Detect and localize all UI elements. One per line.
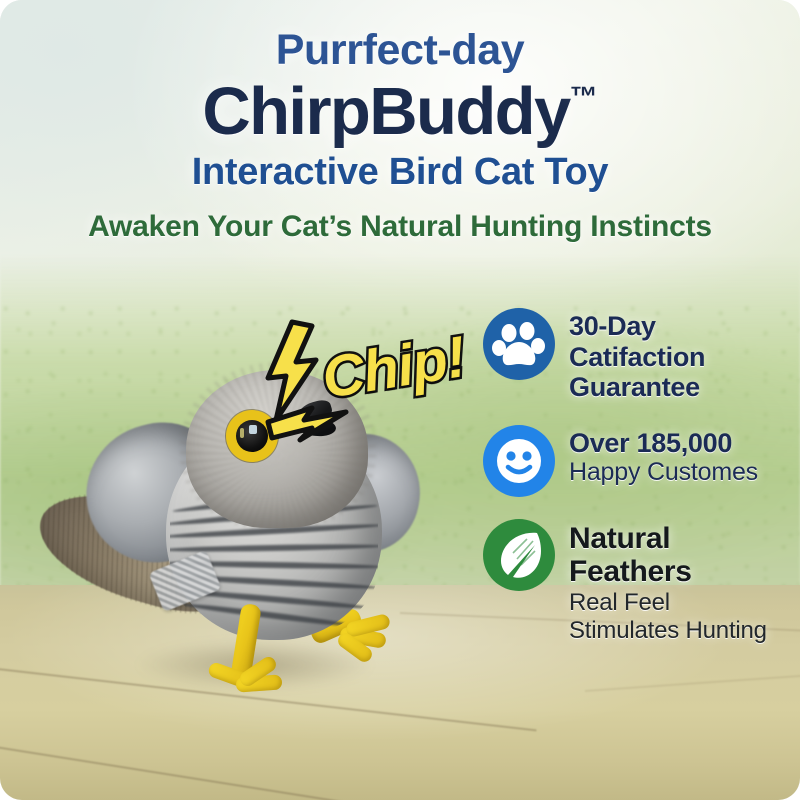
sound-callout: Chip! xyxy=(262,316,472,456)
product-tagline: Interactive Bird Cat Toy xyxy=(0,151,800,194)
feature-sub-line: Real Feel xyxy=(569,589,767,617)
product-ad-card: Purrfect-day ChirpBuddy™ Interactive Bir… xyxy=(0,0,800,800)
leaf-icon xyxy=(483,519,555,591)
trademark-symbol: ™ xyxy=(570,81,598,112)
feature-item-feathers: Natural Feathers Real Feel Stimulates Hu… xyxy=(483,519,783,645)
feature-title-line: Feathers xyxy=(569,555,767,589)
feature-item-customers: Over 185,000 Happy Customes xyxy=(483,425,783,497)
feature-title-line: 30-Day xyxy=(569,311,705,342)
bird-eye-glint xyxy=(240,428,244,438)
feature-text-customers: Over 185,000 Happy Customes xyxy=(569,425,758,488)
feature-title-line: Catifaction xyxy=(569,342,705,373)
feature-text-guarantee: 30-Day Catifaction Guarantee xyxy=(569,308,705,403)
leaf-glyph xyxy=(483,519,555,591)
product-name-text: ChirpBuddy xyxy=(202,74,569,149)
brand-name: Purrfect-day xyxy=(0,26,800,75)
paw-print-glyph xyxy=(483,308,555,380)
smiley-face-glyph xyxy=(483,425,555,497)
feature-title-line: Over 185,000 xyxy=(569,428,758,459)
feature-text-feathers: Natural Feathers Real Feel Stimulates Hu… xyxy=(569,519,767,645)
feature-sub-line: Stimulates Hunting xyxy=(569,617,767,645)
smiley-face-icon xyxy=(483,425,555,497)
lightning-bolt-icon-left xyxy=(268,322,316,420)
paw-print-icon xyxy=(483,308,555,380)
feature-title-line: Guarantee xyxy=(569,372,705,403)
product-name: ChirpBuddy™ xyxy=(0,77,800,147)
feature-list: 30-Day Catifaction Guarantee Over 185,00… xyxy=(483,308,783,667)
product-subtagline: Awaken Your Cat’s Natural Hunting Instin… xyxy=(0,210,800,244)
feature-item-guarantee: 30-Day Catifaction Guarantee xyxy=(483,308,783,403)
headline-block: Purrfect-day ChirpBuddy™ Interactive Bir… xyxy=(0,0,800,244)
feature-title-line: Natural xyxy=(569,522,767,556)
feature-sub-line: Happy Customes xyxy=(569,458,758,487)
bird-eye-glint xyxy=(249,425,257,434)
